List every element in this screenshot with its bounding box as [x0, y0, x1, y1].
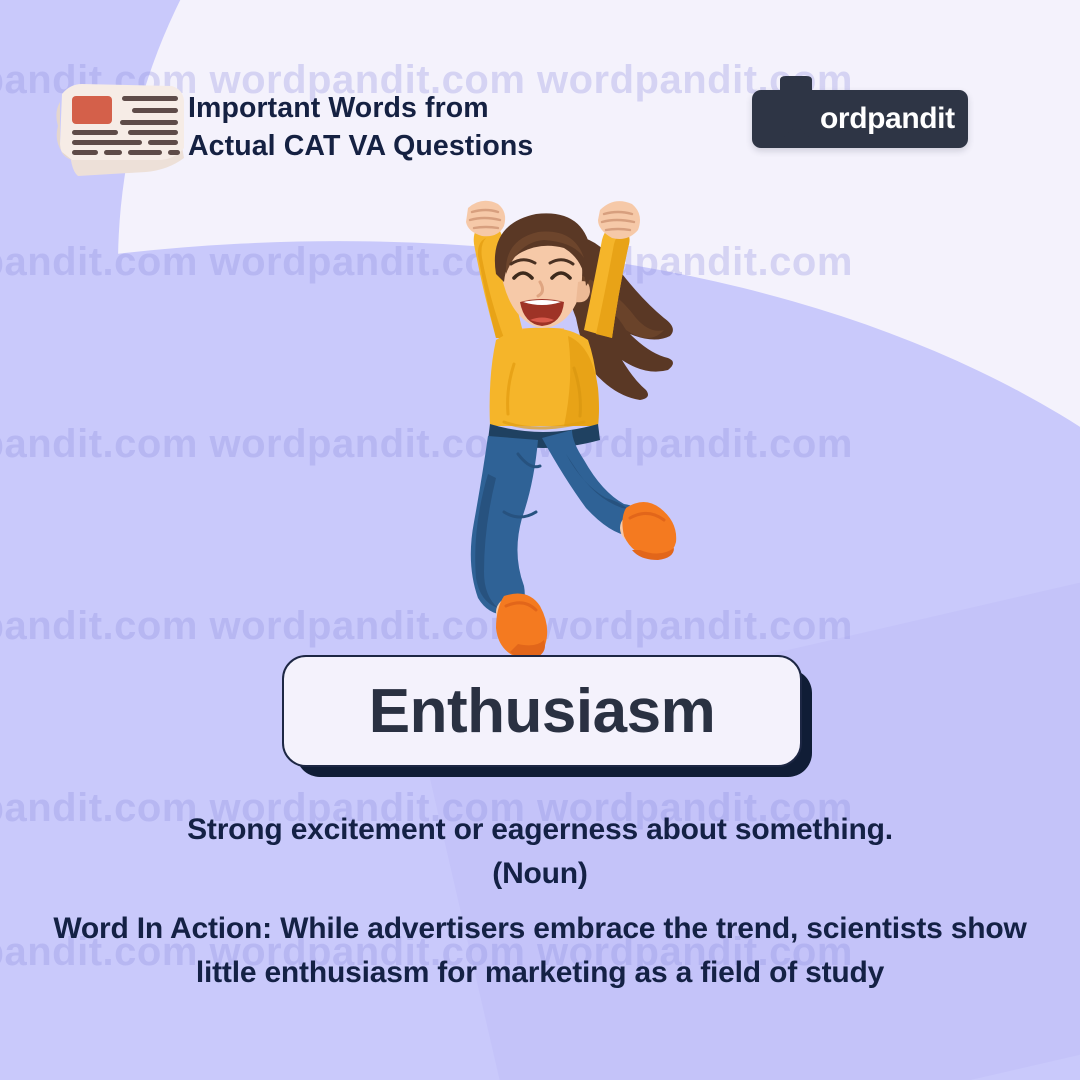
header: Important Words from Actual CAT VA Quest… — [0, 0, 1080, 190]
newspaper-icon — [48, 72, 194, 180]
word-in-action: Word In Action: While advertisers embrac… — [40, 907, 1040, 996]
definition-meaning: Strong excitement or eagerness about som… — [40, 808, 1040, 852]
page-title-line1: Important Words from — [188, 92, 489, 124]
definition-block: Strong excitement or eagerness about som… — [40, 808, 1040, 996]
page-title: Important Words from Actual CAT VA Quest… — [188, 90, 533, 165]
page-title-line2: Actual CAT VA Questions — [188, 128, 533, 166]
word-card: Enthusiasm — [282, 655, 798, 763]
logo-text: ordpandit — [820, 102, 955, 136]
part-of-speech: (Noun) — [40, 852, 1040, 896]
vocabulary-word: Enthusiasm — [369, 676, 715, 747]
word-card-body: Enthusiasm — [282, 655, 802, 767]
celebrating-woman-illustration — [378, 178, 708, 658]
poster-canvas: wordpandit.com wordpandit.com wordpandit… — [0, 0, 1080, 1080]
wordpandit-logo[interactable]: ordpandit — [752, 90, 968, 148]
bookmark-w-icon — [776, 76, 816, 148]
